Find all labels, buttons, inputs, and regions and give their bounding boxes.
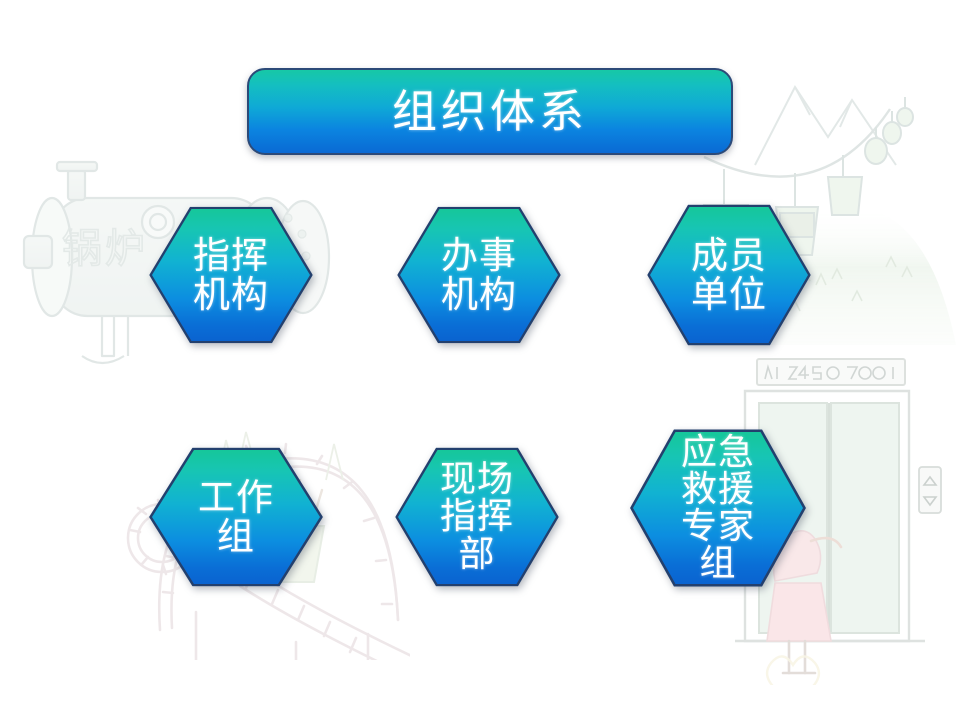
slide-canvas: 锅炉 — [0, 0, 960, 720]
hex-node-label: 工作 组 — [198, 478, 274, 556]
hex-node-chengyuan[interactable]: 成员 单位 — [650, 207, 808, 343]
hex-node-banshi[interactable]: 办事 机构 — [400, 209, 558, 341]
hex-node-zhihui[interactable]: 指挥 机构 — [152, 209, 310, 341]
hex-node-label: 办事 机构 — [441, 236, 517, 314]
hex-node-yingji[interactable]: 应急 救援 专家 组 — [633, 432, 803, 584]
page-title: 组织体系 — [392, 89, 588, 134]
slide-title-banner: 组织体系 — [247, 68, 733, 155]
hex-node-gongzuo[interactable]: 工作 组 — [152, 450, 320, 584]
hex-node-xianchang[interactable]: 现场 指挥 部 — [398, 450, 556, 584]
svg-text:锅炉: 锅炉 — [62, 226, 148, 272]
hex-node-label: 成员 单位 — [691, 236, 767, 314]
hex-node-label: 应急 救援 专家 组 — [681, 434, 755, 582]
hex-node-label: 指挥 机构 — [193, 236, 269, 314]
hex-node-label: 现场 指挥 部 — [440, 461, 514, 572]
